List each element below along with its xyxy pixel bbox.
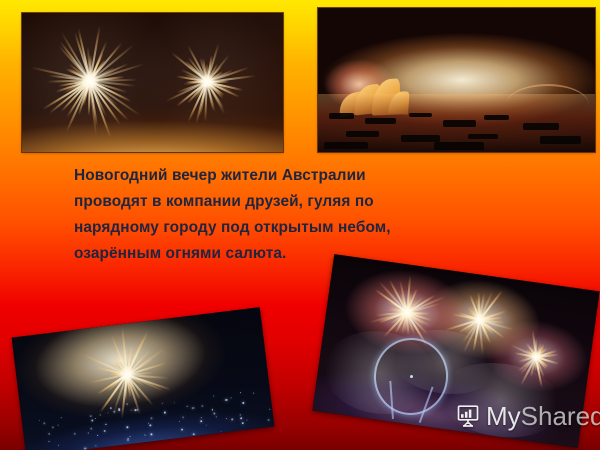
watermark: MyShared	[455, 403, 600, 429]
photo-fireworks-sydney-harbour	[318, 8, 595, 152]
photo-fireworks-stage-blue	[12, 307, 275, 450]
watermark-text: MyShared	[486, 403, 600, 429]
harbour-water	[318, 94, 595, 152]
presentation-chart-icon	[455, 403, 481, 429]
watermark-text-shared: Shared	[521, 401, 600, 431]
photo-fireworks-golden-bursts	[22, 13, 283, 152]
presentation-slide: Новогодний вечер жители Австралии провод…	[0, 0, 600, 450]
watermark-text-my: My	[486, 401, 521, 431]
slide-caption: Новогодний вечер жители Австралии провод…	[74, 163, 534, 267]
